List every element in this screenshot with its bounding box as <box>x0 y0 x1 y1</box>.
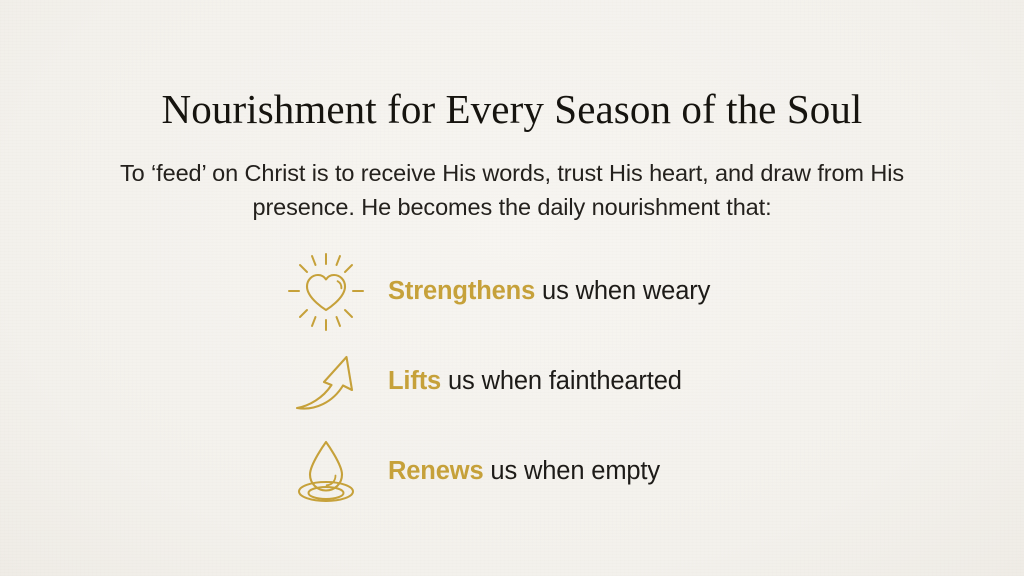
bullet-rest: us when empty <box>483 457 660 485</box>
bullet-text-lifts: Lifts us when fainthearted <box>388 365 682 397</box>
bullet-keyword: Renews <box>388 457 483 485</box>
slide-subtitle: To ‘feed’ on Christ is to receive His wo… <box>112 156 912 224</box>
bullet-rest: us when fainthearted <box>441 367 682 395</box>
bullet-keyword: Strengthens <box>388 277 535 305</box>
bullet-list: Strengthens us when weary Lifts us when … <box>276 246 876 516</box>
page-title: Nourishment for Every Season of the Soul <box>0 84 1024 134</box>
bullet-text-renews: Renews us when empty <box>388 455 660 487</box>
rising-arrow-icon <box>276 336 376 426</box>
bullet-text-strengthens: Strengthens us when weary <box>388 275 710 307</box>
slide-canvas: Nourishment for Every Season of the Soul… <box>0 0 1024 576</box>
water-droplet-icon <box>276 426 376 516</box>
bullet-rest: us when weary <box>535 277 710 305</box>
bullet-keyword: Lifts <box>388 367 441 395</box>
bullet-item-renews: Renews us when empty <box>276 426 876 516</box>
bullet-item-strengthens: Strengthens us when weary <box>276 246 876 336</box>
subtitle-line-1: To ‘feed’ on Christ is to receive His wo… <box>120 160 811 186</box>
bullet-item-lifts: Lifts us when fainthearted <box>276 336 876 426</box>
shining-heart-icon <box>276 246 376 336</box>
